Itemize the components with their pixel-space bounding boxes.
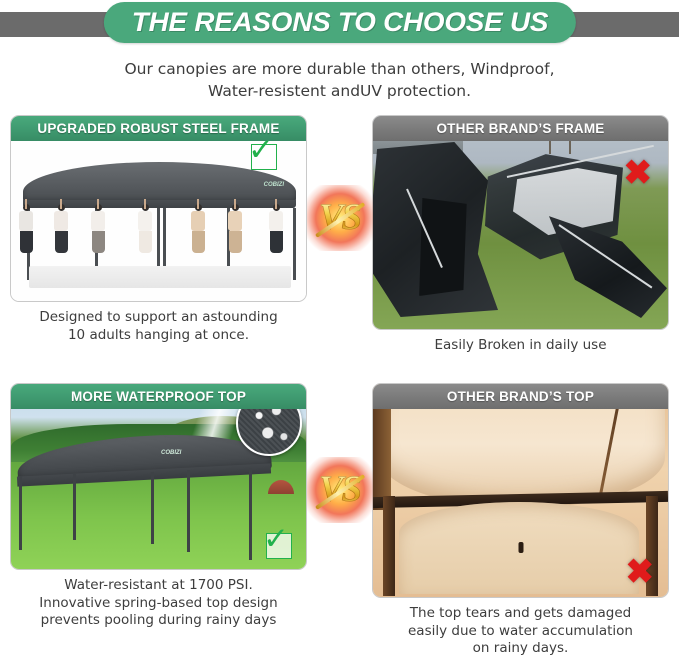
comparison-ours-top: MORE WATERPROOF TOP COBIZI xyxy=(10,383,307,658)
comparison-rows: UPGRADED ROBUST STEEL FRAME COBIZI xyxy=(0,115,679,658)
comparison-ours-frame: UPGRADED ROBUST STEEL FRAME COBIZI xyxy=(10,115,307,355)
theirs-top-caption: The top tears and gets damaged easily du… xyxy=(372,598,669,658)
infographic-page: THE REASONS TO CHOOSE US Our canopies ar… xyxy=(0,0,679,661)
ours-top-brand-tag: COBIZI xyxy=(161,450,181,456)
theirs-frame-caption: Easily Broken in daily use xyxy=(372,330,669,355)
ours-frame-image: UPGRADED ROBUST STEEL FRAME COBIZI xyxy=(11,116,306,301)
studio-floor xyxy=(29,266,291,288)
ours-top-caption: Water-resistant at 1700 PSI. Innovative … xyxy=(10,570,307,630)
ours-frame-caption-line-1: Designed to support an astounding xyxy=(14,309,303,327)
theirs-top-image: OTHER BRAND’S TOP ✖ xyxy=(373,384,668,597)
header-subtitle: Our canopies are more durable than other… xyxy=(0,58,679,103)
hanging-person xyxy=(269,204,283,253)
canopy-leg xyxy=(151,472,154,544)
ours-top-banner-label: MORE WATERPROOF TOP xyxy=(71,389,246,404)
theirs-frame-image: OTHER BRAND’S FRAME xyxy=(373,116,668,329)
ours-frame-banner-label: UPGRADED ROBUST STEEL FRAME xyxy=(37,121,279,136)
comparison-row-frame: UPGRADED ROBUST STEEL FRAME COBIZI xyxy=(0,115,679,355)
theirs-frame-banner: OTHER BRAND’S FRAME xyxy=(373,116,668,141)
hanging-person xyxy=(228,204,242,253)
subtitle-line-1: Our canopies are more durable than other… xyxy=(60,58,619,80)
ours-frame-caption-line-2: 10 adults hanging at once. xyxy=(14,327,303,345)
sagging-ceiling-panel xyxy=(379,392,665,508)
ours-top-banner: MORE WATERPROOF TOP xyxy=(11,384,306,409)
header: THE REASONS TO CHOOSE US xyxy=(0,0,679,46)
theirs-top-banner-label: OTHER BRAND’S TOP xyxy=(447,389,594,404)
canopy-leg xyxy=(187,470,190,552)
theirs-top-banner: OTHER BRAND’S TOP xyxy=(373,384,668,409)
theirs-top-caption-line-2: easily due to water accumulation xyxy=(376,623,665,641)
header-title-pill: THE REASONS TO CHOOSE US xyxy=(103,2,575,43)
ours-top-caption-line-2: Innovative spring-based top design xyxy=(14,595,303,613)
canopy-leg xyxy=(73,474,76,540)
canopy-leg xyxy=(249,468,252,560)
comparison-theirs-frame: OTHER BRAND’S FRAME xyxy=(372,115,669,355)
theirs-frame-x-icon: ✖ xyxy=(624,156,653,190)
hanging-person xyxy=(19,204,33,253)
ours-top-caption-line-1: Water-resistant at 1700 PSI. xyxy=(14,577,303,595)
theirs-top-caption-line-1: The top tears and gets damaged xyxy=(376,605,665,623)
frame-post xyxy=(383,496,395,596)
comparison-theirs-top: OTHER BRAND’S TOP ✖ xyxy=(372,383,669,658)
ours-top-card: MORE WATERPROOF TOP COBIZI xyxy=(10,383,307,570)
canopy-leg xyxy=(19,476,22,550)
vs-badge-top: VS xyxy=(307,457,373,523)
page-title: THE REASONS TO CHOOSE US xyxy=(131,9,547,36)
ours-frame-brand-tag: COBIZI xyxy=(264,182,284,188)
theirs-frame-caption-line-1: Easily Broken in daily use xyxy=(376,337,665,355)
theirs-frame-card: OTHER BRAND’S FRAME xyxy=(372,115,669,330)
frame-rafter xyxy=(373,392,391,510)
hanging-person xyxy=(91,204,105,253)
subtitle-line-2: Water-resistent andUV protection. xyxy=(60,80,619,102)
zipper-pull xyxy=(518,542,523,553)
theirs-top-card: OTHER BRAND’S TOP ✖ xyxy=(372,383,669,598)
ours-frame-caption: Designed to support an astounding 10 adu… xyxy=(10,302,307,345)
comparison-row-top: MORE WATERPROOF TOP COBIZI xyxy=(0,383,679,658)
hanging-person xyxy=(191,204,205,253)
ours-top-check-icon: ✓ xyxy=(266,533,292,559)
hanging-person xyxy=(54,204,68,253)
background-small-tent xyxy=(268,480,294,494)
broken-tent-opening xyxy=(417,198,471,296)
canopy-leg xyxy=(293,208,296,280)
ours-top-image: MORE WATERPROOF TOP COBIZI xyxy=(11,384,306,569)
ours-frame-card: UPGRADED ROBUST STEEL FRAME COBIZI xyxy=(10,115,307,302)
theirs-top-x-icon: ✖ xyxy=(626,555,655,589)
hanging-person xyxy=(138,204,152,253)
theirs-frame-banner-label: OTHER BRAND’S FRAME xyxy=(436,121,604,136)
ours-frame-check-icon: ✓ xyxy=(251,144,277,170)
vs-badge-frame: VS xyxy=(307,185,373,251)
ours-top-caption-line-3: prevents pooling during rainy days xyxy=(14,612,303,630)
theirs-top-caption-line-3: on rainy days. xyxy=(376,640,665,658)
